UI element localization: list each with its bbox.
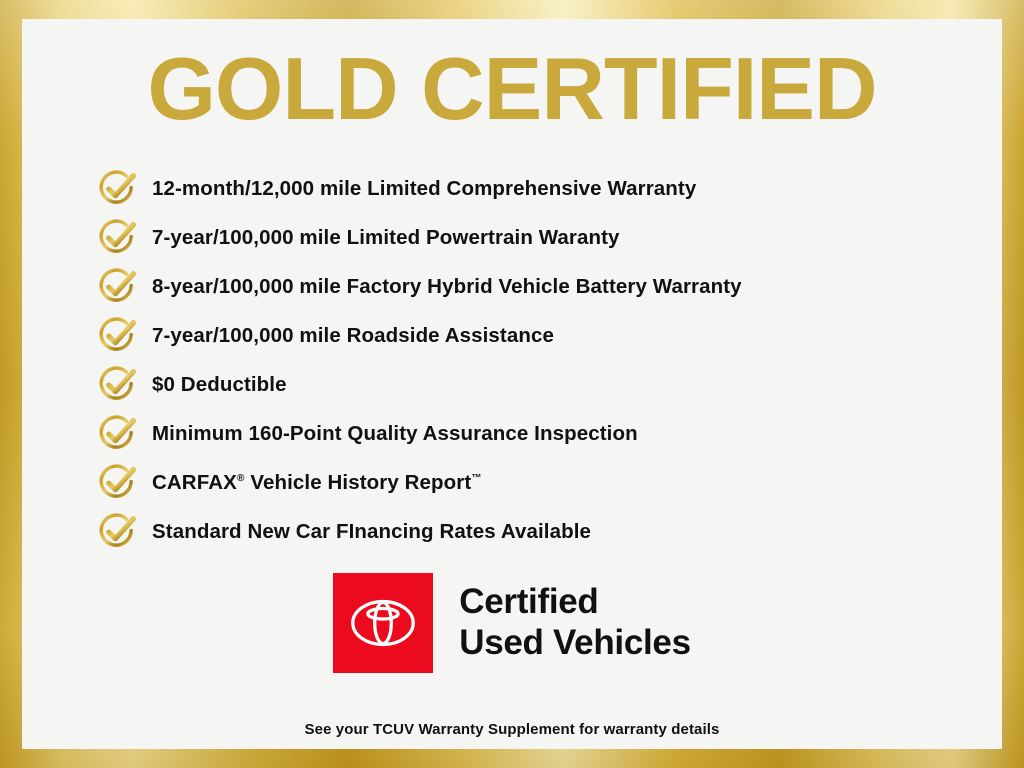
gold-certified-badge: GOLD CERTIFIED xyxy=(0,0,1024,768)
feature-list: 12-month/12,000 mile Limited Comprehensi… xyxy=(96,164,974,556)
list-item: Minimum 160-Point Quality Assurance Insp… xyxy=(96,409,974,458)
page-title: GOLD CERTIFIED xyxy=(22,45,1002,133)
warranty-footnote: See your TCUV Warranty Supplement for wa… xyxy=(22,721,1002,738)
feature-label: 12-month/12,000 mile Limited Comprehensi… xyxy=(152,177,696,201)
lockup-line-1: Certified xyxy=(459,582,691,623)
list-item: 12-month/12,000 mile Limited Comprehensi… xyxy=(96,164,974,213)
gold-check-circle-icon xyxy=(96,511,140,553)
list-item: $0 Deductible xyxy=(96,360,974,409)
list-item: 7-year/100,000 mile Limited Powertrain W… xyxy=(96,213,974,262)
feature-label: 7-year/100,000 mile Limited Powertrain W… xyxy=(152,226,620,250)
feature-label: Standard New Car FInancing Rates Availab… xyxy=(152,520,591,544)
gold-check-circle-icon xyxy=(96,168,140,210)
gold-check-circle-icon xyxy=(96,266,140,308)
feature-label: 7-year/100,000 mile Roadside Assistance xyxy=(152,324,554,348)
gold-check-circle-icon xyxy=(96,413,140,455)
list-item: CARFAX® Vehicle History Report™ xyxy=(96,458,974,507)
lockup-text: Certified Used Vehicles xyxy=(459,582,691,664)
toyota-certified-used-vehicles-lockup: Certified Used Vehicles xyxy=(22,573,1002,673)
list-item: Standard New Car FInancing Rates Availab… xyxy=(96,507,974,556)
trademark-mark: ™ xyxy=(471,473,481,484)
toyota-emblem-icon xyxy=(333,573,433,673)
gold-check-circle-icon xyxy=(96,364,140,406)
feature-label: $0 Deductible xyxy=(152,373,287,397)
list-item: 8-year/100,000 mile Factory Hybrid Vehic… xyxy=(96,262,974,311)
lockup-line-2: Used Vehicles xyxy=(459,623,691,664)
list-item: 7-year/100,000 mile Roadside Assistance xyxy=(96,311,974,360)
carfax-wordmark: CARFAX xyxy=(152,471,237,494)
feature-label-carfax: CARFAX® Vehicle History Report™ xyxy=(152,471,482,495)
gold-check-circle-icon xyxy=(96,217,140,259)
badge-panel: GOLD CERTIFIED xyxy=(22,19,1002,749)
feature-label: 8-year/100,000 mile Factory Hybrid Vehic… xyxy=(152,275,742,299)
gold-check-circle-icon xyxy=(96,315,140,357)
registered-mark: ® xyxy=(237,473,245,484)
carfax-report-text: Vehicle History Report xyxy=(245,471,472,494)
feature-label: Minimum 160-Point Quality Assurance Insp… xyxy=(152,422,638,446)
gold-check-circle-icon xyxy=(96,462,140,504)
